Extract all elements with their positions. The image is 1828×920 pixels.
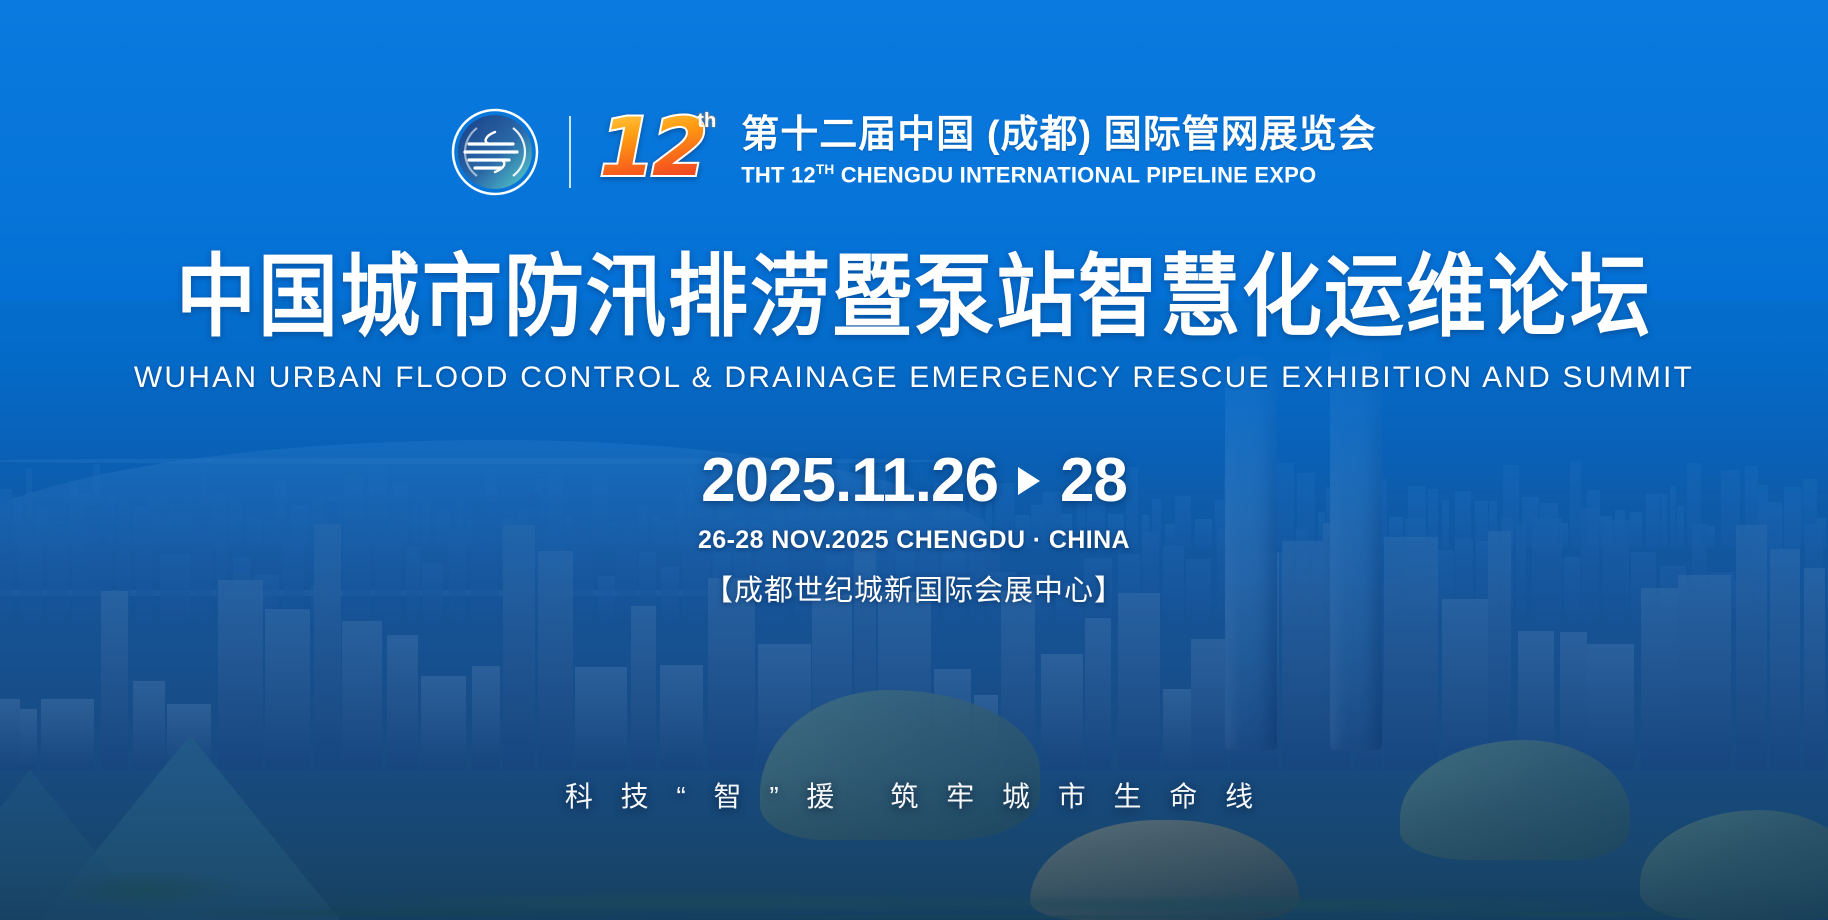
expo-title-en-prefix: THT 12	[741, 163, 816, 188]
edition-suffix: th	[697, 110, 716, 133]
expo-title-en-sup: TH	[816, 162, 835, 177]
header-text-block: 第十二届中国 (成都) 国际管网展览会 THT 12TH CHENGDU INT…	[741, 115, 1376, 188]
edition-number-mark: 12 12 th	[599, 106, 719, 198]
expo-title-cn: 第十二届中国 (成都) 国际管网展览会	[741, 115, 1376, 156]
header-divider	[569, 116, 571, 188]
slogan-line: 科 技 “ 智 ” 援筑 牢 城 市 生 命 线	[0, 775, 1828, 815]
expo-title-en-rest: CHENGDU INTERNATIONAL PIPELINE EXPO	[834, 163, 1316, 188]
slogan-part-1: 科 技 “ 智 ” 援	[565, 781, 845, 812]
expo-banner: 12 12 th 第十二届中国 (成都) 国际管网展览会 THT 12TH CH…	[0, 0, 1828, 920]
header-lockup: 12 12 th 第十二届中国 (成都) 国际管网展览会 THT 12TH CH…	[0, 106, 1828, 198]
date-end: 28	[1060, 450, 1127, 512]
date-start: 2025.11.26	[701, 450, 998, 512]
forum-title-cn: 中国城市防汛排涝暨泵站智慧化运维论坛	[0, 250, 1828, 345]
date-line-en: 26-28 NOV.2025 CHENGDU · CHINA	[0, 526, 1828, 555]
date-range: 2025.11.26 28	[701, 450, 1127, 512]
date-venue-block: 2025.11.26 28 26-28 NOV.2025 CHENGDU · C…	[0, 450, 1828, 609]
slogan-part-2: 筑 牢 城 市 生 命 线	[890, 781, 1263, 812]
play-triangle-icon	[1018, 467, 1040, 495]
expo-title-en: THT 12TH CHENGDU INTERNATIONAL PIPELINE …	[741, 162, 1376, 188]
forum-title-en: WUHAN URBAN FLOOD CONTROL & DRAINAGE EME…	[0, 361, 1828, 395]
venue-name-cn: 【成都世纪城新国际会展中心】	[0, 567, 1828, 609]
pipeline-circle-emblem-icon	[451, 108, 539, 196]
edition-number-fill: 12	[599, 108, 704, 188]
main-title-block: 中国城市防汛排涝暨泵站智慧化运维论坛 WUHAN URBAN FLOOD CON…	[0, 250, 1828, 395]
